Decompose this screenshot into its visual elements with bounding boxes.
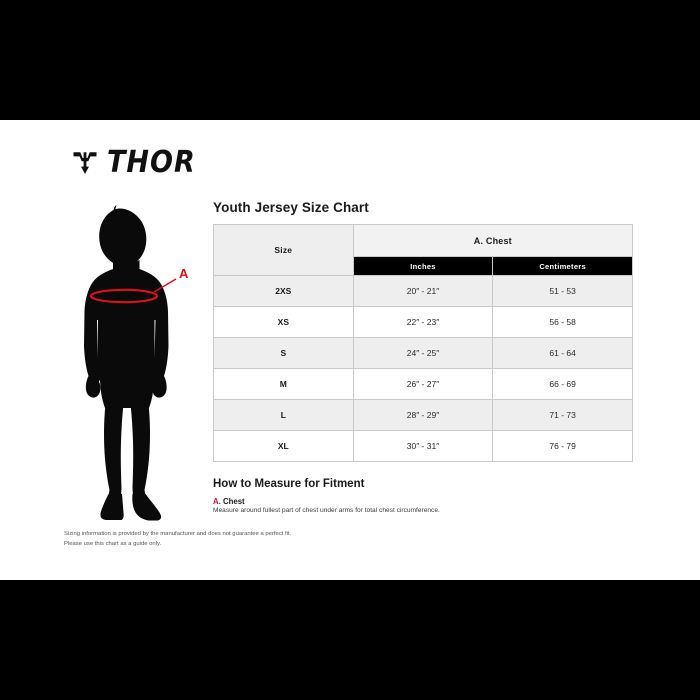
brand-wordmark: THOR [107,147,196,177]
table-row: M26″ - 27″66 - 69 [214,369,633,400]
cell-centimeters: 66 - 69 [493,369,633,400]
cell-inches: 20″ - 21″ [353,276,493,307]
measure-item-letter: A. [213,497,221,506]
cell-centimeters: 56 - 58 [493,307,633,338]
cell-inches: 22″ - 23″ [353,307,493,338]
table-row: S24″ - 25″61 - 64 [214,338,633,369]
cell-centimeters: 76 - 79 [493,431,633,462]
cell-size: XL [214,431,354,462]
column-header-centimeters: Centimeters [493,257,633,276]
cell-inches: 28″ - 29″ [353,400,493,431]
table-row: XS22″ - 23″56 - 58 [214,307,633,338]
disclaimer-line-1: Sizing information is provided by the ma… [64,530,484,540]
brand-logo: THOR [72,149,196,176]
table-header-row-group: Size A. Chest [214,225,633,257]
page-title: Youth Jersey Size Chart [213,200,633,215]
cell-size: L [214,400,354,431]
column-header-group-chest: A. Chest [353,225,632,257]
how-to-measure-title: How to Measure for Fitment [213,478,633,490]
content-panel: THOR [0,120,700,580]
table-head: Size A. Chest Inches Centimeters [214,225,633,276]
cell-inches: 24″ - 25″ [353,338,493,369]
column-header-size: Size [214,225,354,276]
cell-inches: 30″ - 31″ [353,431,493,462]
cell-inches: 26″ - 27″ [353,369,493,400]
cell-size: 2XS [214,276,354,307]
measure-item-description: Measure around fullest part of chest und… [213,507,633,516]
body-figure: A [58,200,208,530]
chest-measure-label: A [179,266,189,281]
screenshot-stage: THOR [0,0,700,700]
disclaimer-line-2: Please use this chart as a guide only. [64,540,484,550]
column-header-inches: Inches [353,257,493,276]
cell-size: S [214,338,354,369]
measure-item-name: Chest [223,497,245,506]
cell-centimeters: 51 - 53 [493,276,633,307]
disclaimer: Sizing information is provided by the ma… [64,530,484,549]
table-row: XL30″ - 31″76 - 79 [214,431,633,462]
thor-hammer-icon [72,150,98,176]
cell-size: M [214,369,354,400]
table-row: L28″ - 29″71 - 73 [214,400,633,431]
measure-item-chest: A. Chest Measure around fullest part of … [213,497,633,516]
how-to-measure-section: How to Measure for Fitment A. Chest Meas… [213,478,633,516]
measure-item-heading: A. Chest [213,497,633,506]
cell-size: XS [214,307,354,338]
chart-column: Youth Jersey Size Chart Size A. Chest In… [213,200,633,516]
size-chart-table: Size A. Chest Inches Centimeters 2XS20″ … [213,224,633,462]
table-row: 2XS20″ - 21″51 - 53 [214,276,633,307]
table-body: 2XS20″ - 21″51 - 53XS22″ - 23″56 - 58S24… [214,276,633,462]
cell-centimeters: 71 - 73 [493,400,633,431]
cell-centimeters: 61 - 64 [493,338,633,369]
